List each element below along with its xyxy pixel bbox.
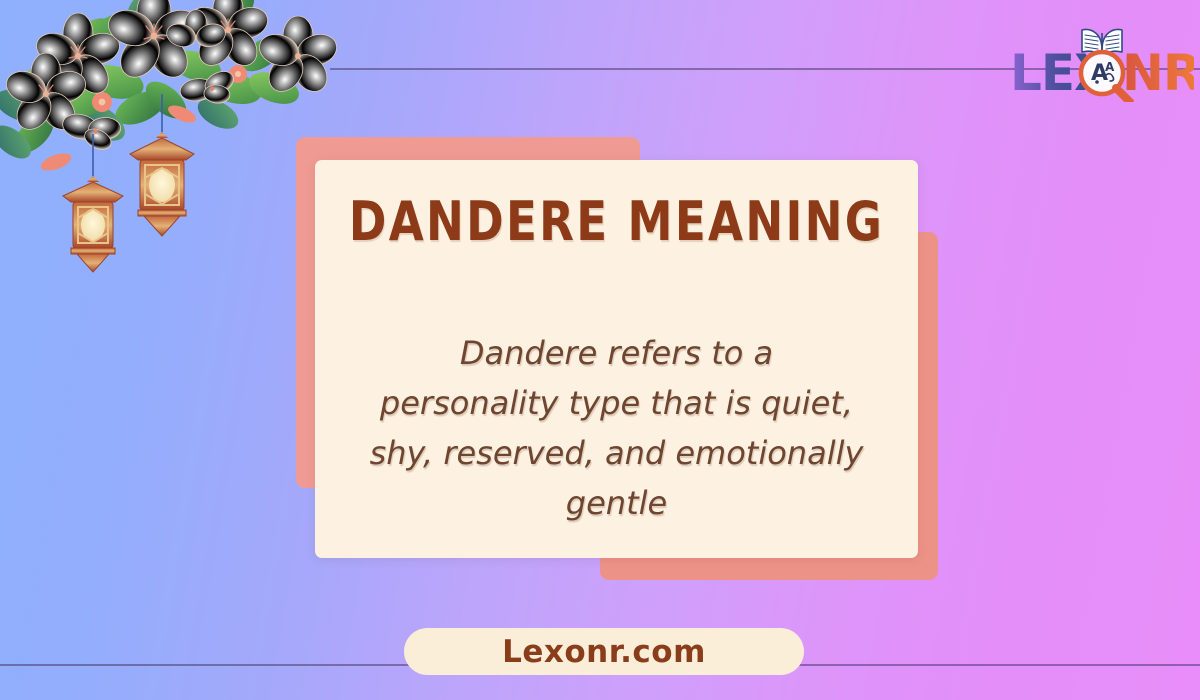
logo-letter-a-small: A — [1105, 60, 1115, 74]
page-title: DANDERE MEANING — [336, 190, 897, 253]
logo-text-nr: NR — [1122, 44, 1194, 102]
poster-canvas: DANDERE MEANING Dandere refers to a pers… — [0, 0, 1200, 700]
definition-card: DANDERE MEANING Dandere refers to a pers… — [315, 160, 918, 558]
definition-text: Dandere refers to a personality type tha… — [367, 328, 866, 528]
site-url-label: Lexonr.com — [502, 634, 706, 670]
lexonr-logo[interactable]: LEX NR A A — [1006, 18, 1194, 102]
site-url-banner[interactable]: Lexonr.com — [404, 628, 804, 675]
floral-garland-with-lanterns — [0, 0, 360, 284]
hibiscus-flower — [2, 0, 340, 156]
